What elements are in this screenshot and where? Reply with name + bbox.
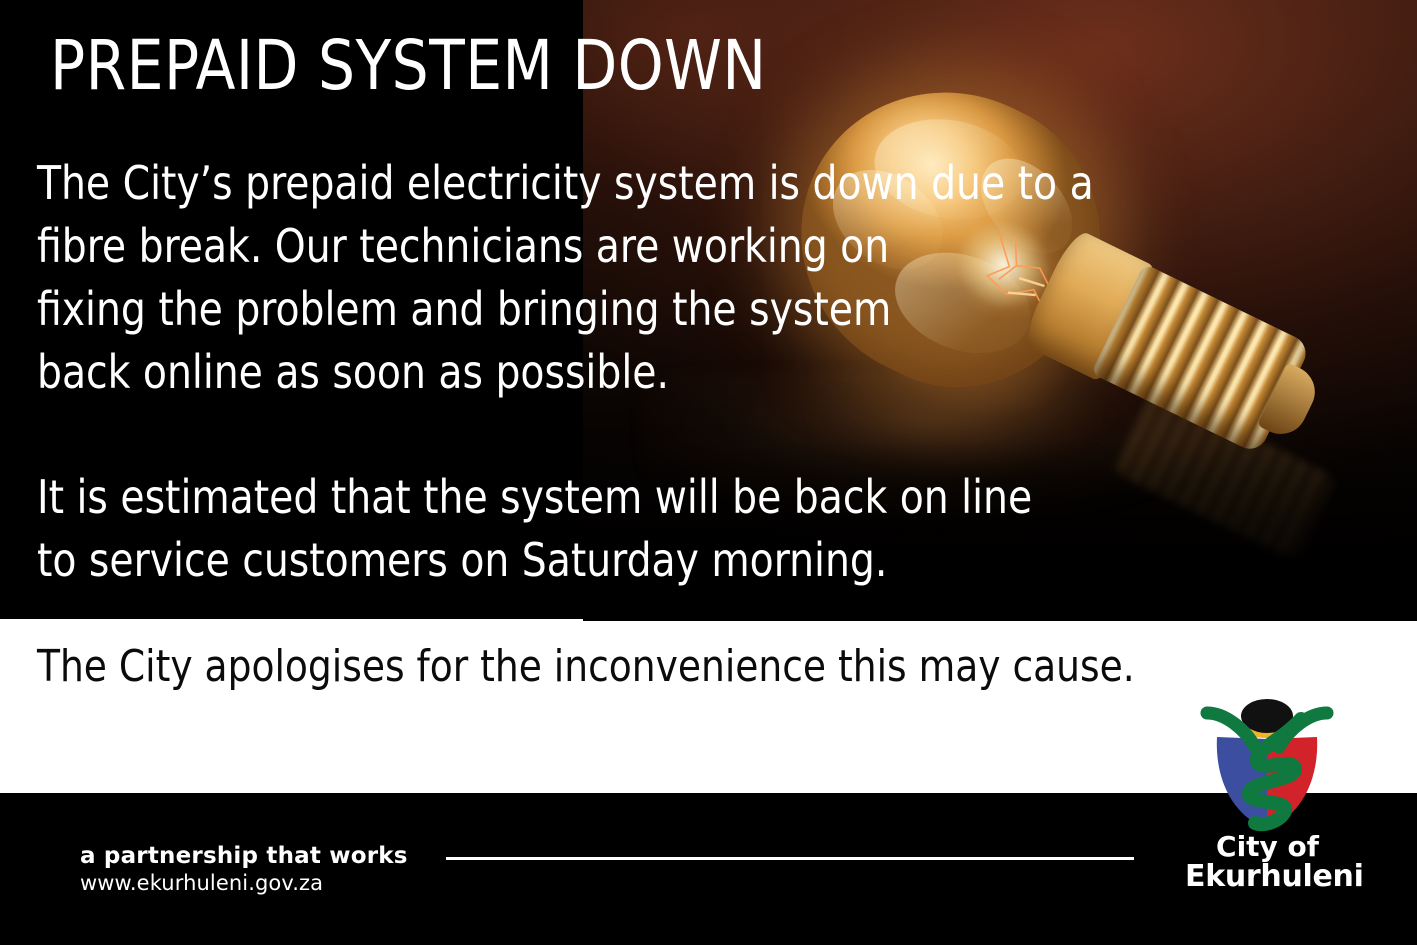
paragraph-1-line-2: fibre break. Our technicians are working… [37,215,1234,278]
footer-divider-rule [446,857,1134,860]
city-of-ekurhuleni-logo: City of Ekurhuleni [1185,695,1350,895]
footer-website-url[interactable]: www.ekurhuleni.gov.za [80,871,323,895]
poster-canvas: PREPAID SYSTEM DOWN The City’s prepaid e… [0,0,1417,945]
logo-line-city: City of [1185,833,1350,862]
paragraph-2-line-2: to service customers on Saturday morning… [37,529,1032,592]
notice-paragraph-1: The City’s prepaid electricity system is… [37,152,1234,404]
logo-wordmark: City of Ekurhuleni [1185,833,1350,892]
paragraph-1-line-1: The City’s prepaid electricity system is… [37,152,1282,215]
footer-tagline: a partnership that works [80,843,408,869]
logo-line-ekurhuleni: Ekurhuleni [1185,862,1350,893]
ekurhuleni-emblem-icon [1185,695,1350,835]
page-title: PREPAID SYSTEM DOWN [50,32,766,101]
paragraph-1-line-4: back online as soon as possible. [37,341,1234,404]
apology-text: The City apologises for the inconvenienc… [37,639,1135,695]
paragraph-1-line-3: fixing the problem and bringing the syst… [37,278,1234,341]
paragraph-2-line-1: It is estimated that the system will be … [37,466,1032,529]
notice-paragraph-2: It is estimated that the system will be … [37,466,1032,592]
